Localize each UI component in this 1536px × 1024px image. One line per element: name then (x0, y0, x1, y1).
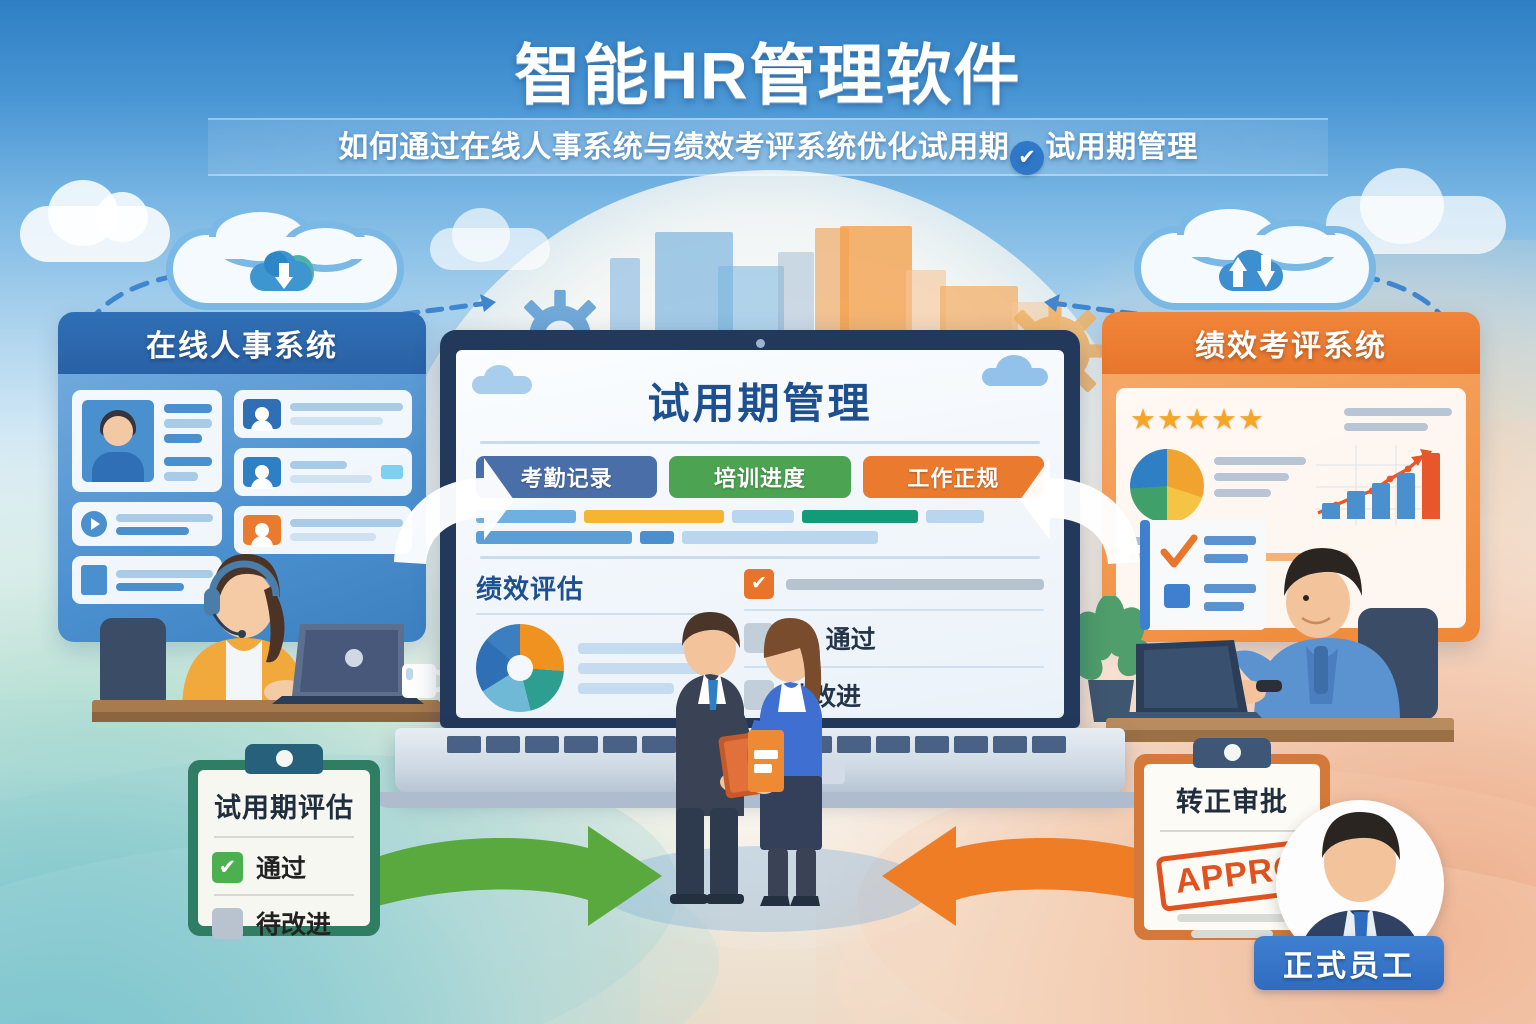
placeholder-bar (1214, 457, 1306, 465)
cloud-arrows-glyph (1209, 245, 1301, 299)
employee-record-row[interactable] (234, 448, 412, 496)
divider (214, 836, 354, 838)
placeholder-bar (164, 472, 198, 481)
panel-left-header: 在线人事系统 (58, 312, 426, 374)
placeholder-bar (290, 417, 383, 425)
employee-record-row[interactable] (234, 390, 412, 438)
clipboard-left-label-pass: 通过 (256, 849, 306, 885)
avatar (82, 400, 154, 482)
bar-segment (640, 531, 674, 544)
employee-badge[interactable]: 正式员工 (1276, 800, 1476, 1000)
infographic-canvas: 智能HR管理软件 如何通过在线人事系统与绩效考评系统优化试用期✔试用期管理 (0, 0, 1536, 1024)
divider (214, 894, 354, 896)
progress-rows (476, 510, 1044, 544)
performance-donut-chart (476, 624, 564, 712)
arrow-left-white (1018, 452, 1146, 570)
clipboard-left-title: 试用期评估 (212, 786, 356, 825)
empty-box-icon[interactable] (212, 908, 243, 939)
subtitle-text-before: 如何通过在线人事系统与绩效考评系统优化试用期 (338, 131, 1009, 164)
placeholder-bar (164, 457, 212, 466)
id-card-icon (243, 457, 281, 487)
screen-title: 试用期管理 (476, 370, 1044, 431)
subtitle-text-after: 试用期管理 (1045, 131, 1198, 164)
placeholder-bar (1344, 423, 1428, 431)
tab-work-label: 工作正规 (907, 461, 999, 493)
decorative-cloud-icon (982, 368, 1048, 386)
clipboard-clip-icon (245, 744, 323, 774)
tab-training[interactable]: 培训进度 (669, 456, 850, 498)
employee-status-badge[interactable]: 正式员工 (1254, 936, 1444, 990)
bar-segment (584, 510, 724, 523)
bar-segment (926, 510, 984, 523)
clipboard-left-label-improve: 待改进 (256, 905, 331, 941)
arrow-right-green (374, 822, 664, 934)
cloud-download-icon (166, 228, 404, 310)
clipboard-paper: 试用期评估 ✔ 通过 待改进 (198, 770, 370, 926)
section-title: 绩效评估 (476, 569, 724, 606)
checked-box-icon[interactable]: ✔ (212, 852, 243, 883)
placeholder-bar (1177, 914, 1287, 922)
tab-training-label: 培训进度 (714, 461, 806, 493)
tab-work[interactable]: 工作正规 (863, 456, 1044, 498)
probation-evaluation-clipboard[interactable]: 试用期评估 ✔ 通过 待改进 (188, 760, 380, 936)
page-subtitle: 如何通过在线人事系统与绩效考评系统优化试用期✔试用期管理 (0, 122, 1536, 175)
panel-right-header: 绩效考评系统 (1102, 312, 1480, 374)
panel-left-title: 在线人事系统 (146, 321, 338, 365)
placeholder-bar (164, 404, 212, 413)
placeholder-bar (1344, 408, 1452, 416)
cloud-arrow-glyph (242, 247, 328, 299)
manager-illustration (1106, 500, 1476, 750)
progress-row (476, 510, 1044, 523)
clipboard-item-pass[interactable]: ✔ 通过 (212, 849, 356, 885)
divider (480, 556, 1040, 559)
id-card-icon (243, 399, 281, 429)
clipboard-item-improve[interactable]: 待改进 (212, 905, 356, 941)
tab-attendance-label: 考勤记录 (521, 461, 613, 493)
checked-box-orange-icon[interactable]: ✔ (744, 569, 774, 599)
divider (480, 441, 1040, 444)
rating-stars: ★★★★★ (1130, 402, 1265, 437)
arrow-right-white (388, 452, 516, 570)
placeholder-bar (290, 403, 403, 411)
arrow-left-orange (880, 822, 1170, 934)
check-circle-icon: ✔ (1010, 141, 1044, 175)
checklist-row-top[interactable]: ✔ (744, 569, 1044, 599)
placeholder-bar (164, 419, 212, 428)
placeholder-bar (290, 461, 347, 469)
bar-segment (682, 531, 878, 544)
cloud-sync-icon (1134, 226, 1376, 310)
page-title: 智能HR管理软件 (0, 22, 1536, 118)
business-couple-illustration (648, 606, 868, 906)
placeholder-bar (164, 434, 202, 443)
webcam-icon (756, 339, 765, 348)
bar-segment (732, 510, 794, 523)
placeholder-bar (290, 475, 372, 483)
decorative-cloud-icon (472, 376, 532, 394)
placeholder-bar (786, 579, 1044, 590)
tab-bar[interactable]: 考勤记录 培训进度 工作正规 (476, 456, 1044, 498)
employee-profile-card[interactable] (72, 390, 222, 492)
placeholder-bar (1214, 489, 1271, 497)
placeholder-bar (1214, 473, 1289, 481)
progress-row (476, 531, 1044, 544)
employee-badge-label: 正式员工 (1283, 941, 1415, 985)
panel-right-title: 绩效考评系统 (1195, 321, 1387, 365)
bar-segment (802, 510, 918, 523)
header: 智能HR管理软件 如何通过在线人事系统与绩效考评系统优化试用期✔试用期管理 (0, 0, 1536, 186)
clipboard-clip-icon (1193, 738, 1271, 768)
